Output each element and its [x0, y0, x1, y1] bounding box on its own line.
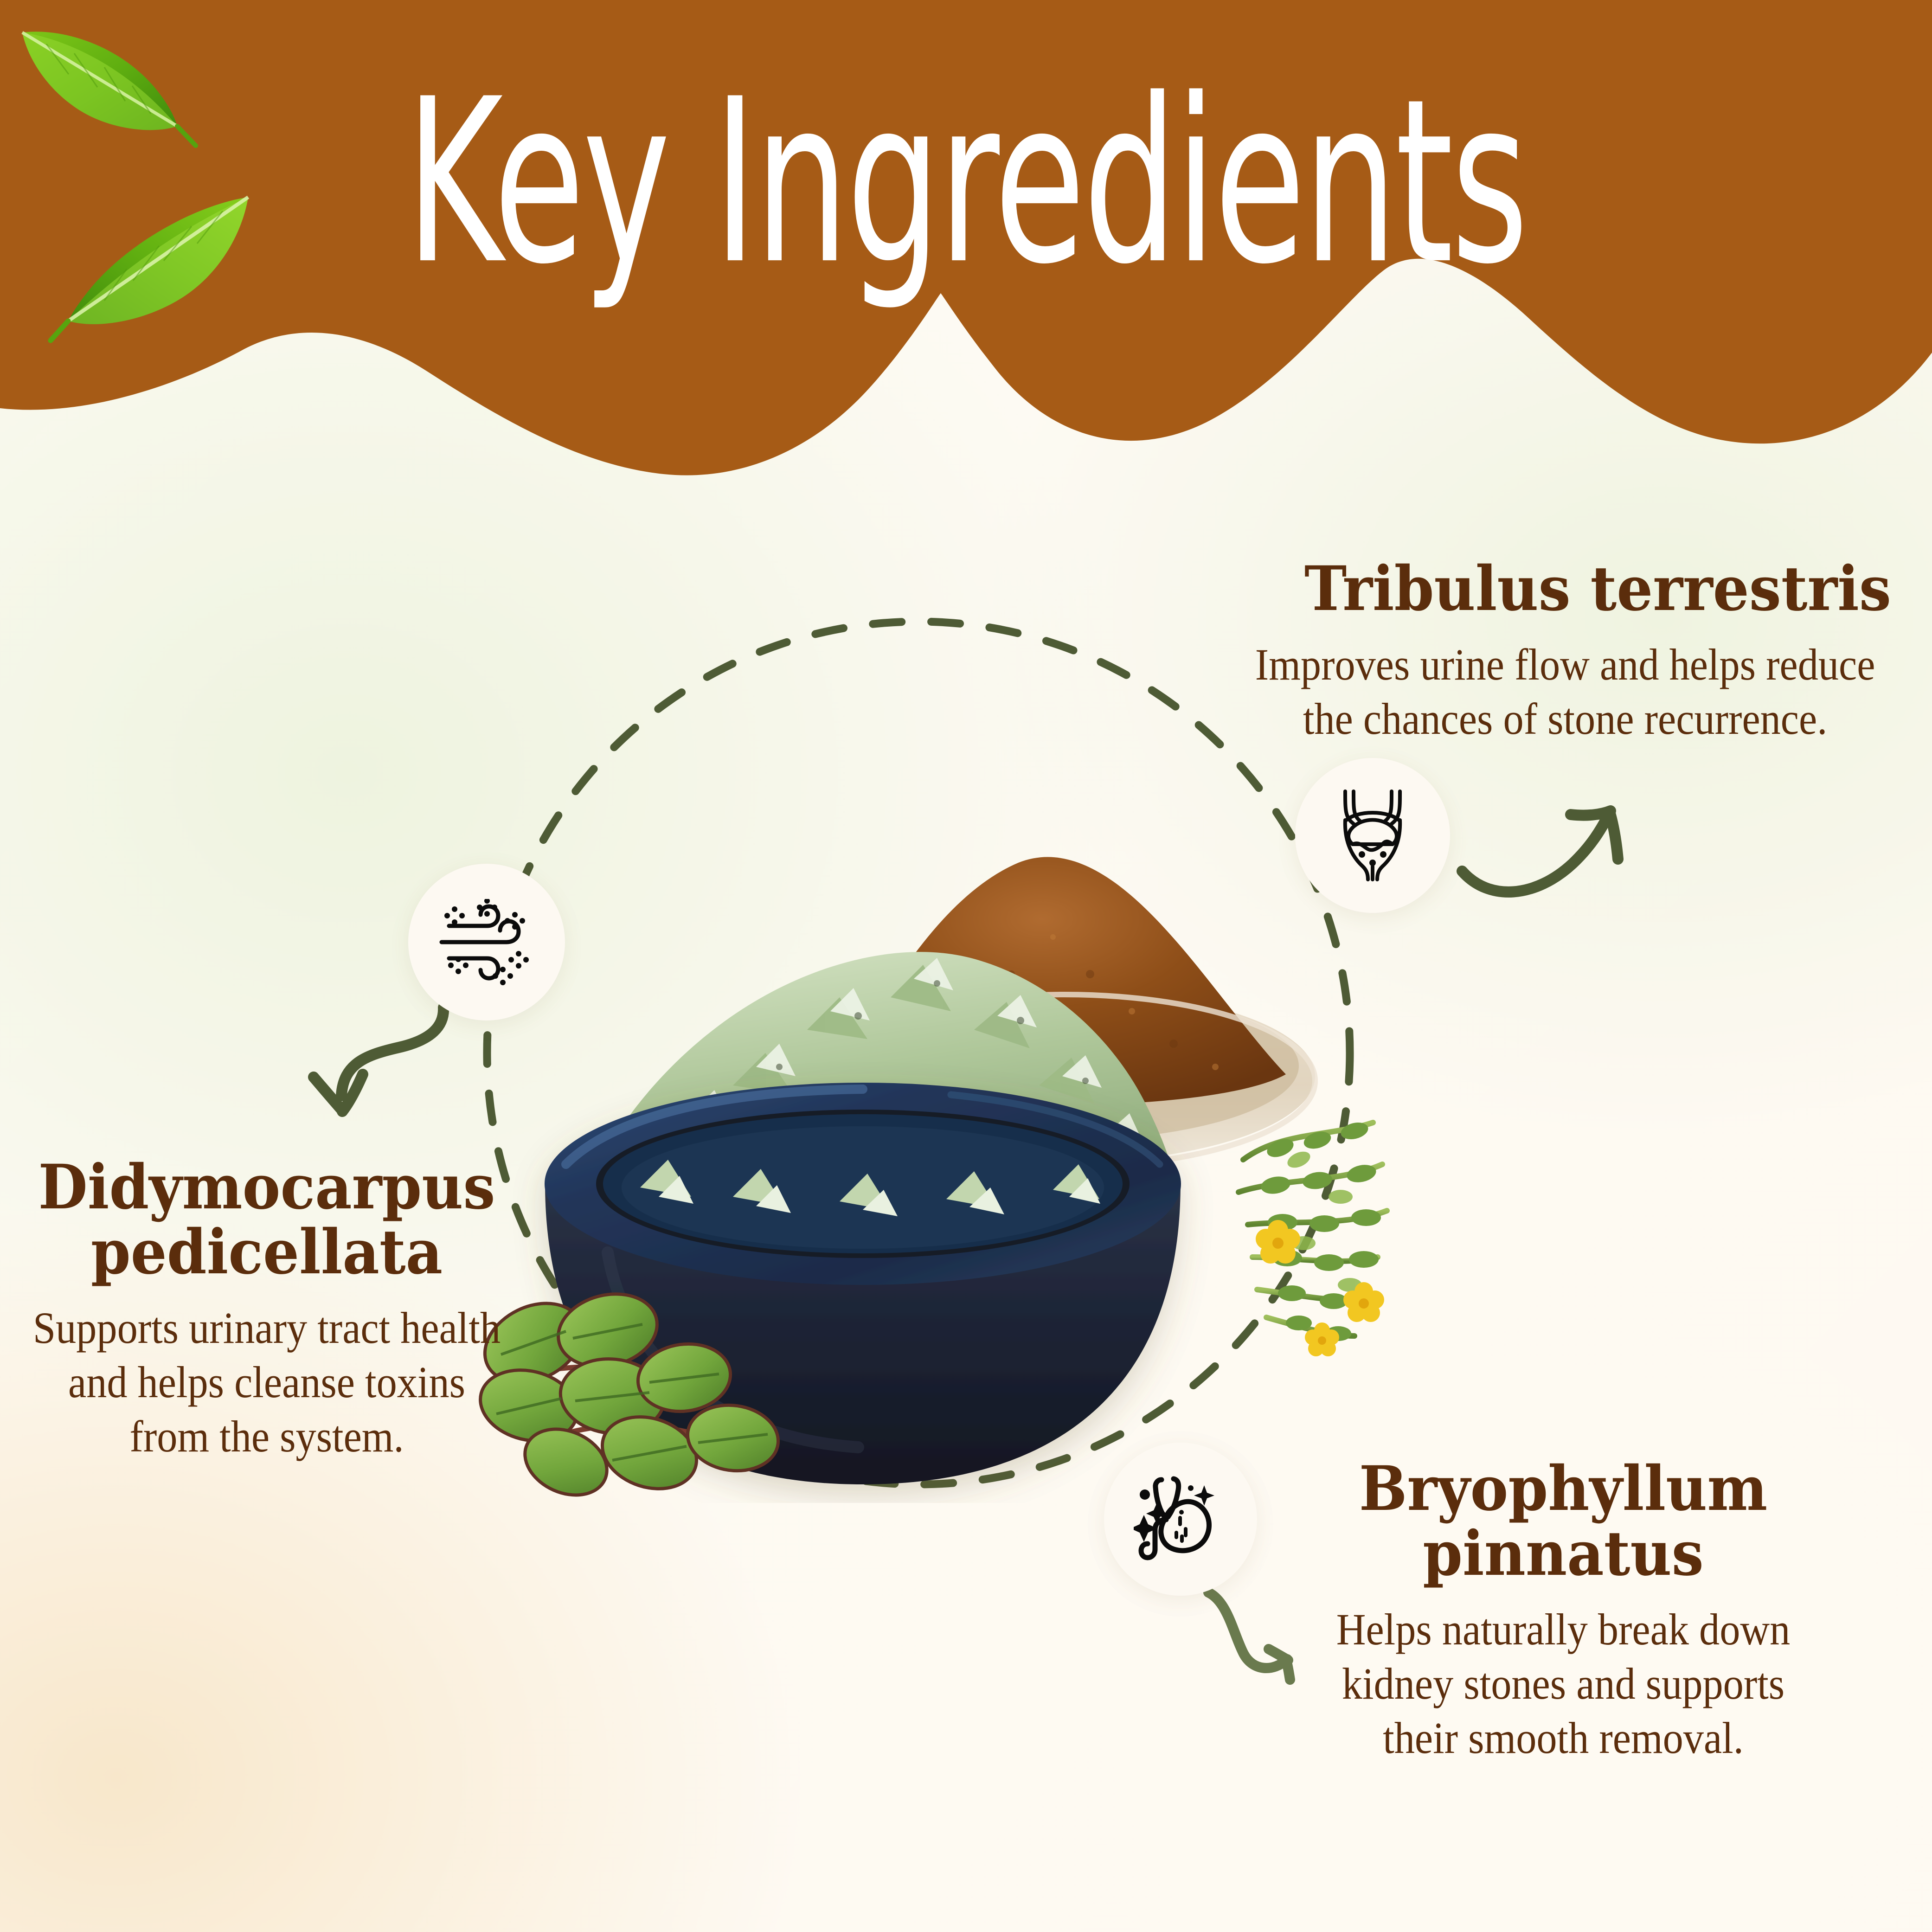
tribulus-flower	[1256, 1220, 1384, 1356]
wind-detox-icon[interactable]	[408, 864, 565, 1021]
ingredient-name-line-2: pinnatus	[1309, 1521, 1817, 1586]
bladder-icon[interactable]	[1295, 758, 1450, 913]
ingredient-name-line-1: Bryophyllum	[1309, 1457, 1817, 1521]
ingredient-block-didymocarpus: Didymocarpus pedicellata Supports urinar…	[9, 1155, 524, 1463]
ingredient-description: Helps naturally break down kidney stones…	[1311, 1602, 1815, 1765]
infographic-canvas: Key Ingredients	[0, 0, 1932, 1932]
curved-arrow-up-right	[1457, 789, 1651, 928]
page-title: Key Ingredients	[193, 70, 1739, 296]
curved-arrow-down-left	[297, 997, 482, 1141]
ingredient-name-line-1: Didymocarpus	[27, 1155, 506, 1220]
ingredient-block-bryophyllum: Bryophyllum pinnatus Helps naturally bre…	[1290, 1457, 1837, 1765]
ingredient-name: Tribulus terrestris	[1239, 557, 1891, 622]
stomach-sparkle-icon[interactable]	[1104, 1443, 1257, 1596]
ingredient-block-tribulus: Tribulus terrestris Improves urine flow …	[1190, 557, 1913, 746]
tea-leaf-icon	[14, 19, 199, 172]
ingredient-description: Supports urinary tract health and helps …	[30, 1301, 503, 1463]
ingredient-description: Improves urine flow and helps reduce the…	[1246, 637, 1891, 746]
product-composition-image	[473, 779, 1457, 1503]
header-banner: Key Ingredients	[0, 0, 1932, 492]
ingredient-name-line-2: pedicellata	[27, 1220, 506, 1285]
tribulus-plant	[1239, 1120, 1387, 1356]
